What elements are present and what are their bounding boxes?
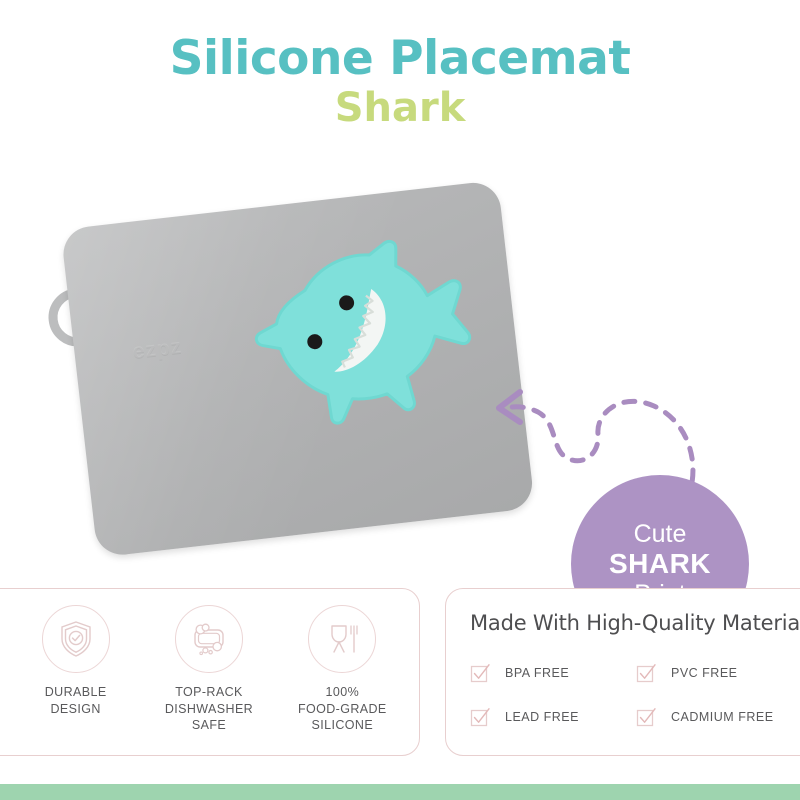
feature-label-durable: DURABLE DESIGN bbox=[45, 684, 107, 717]
footer-accent-bar bbox=[0, 784, 800, 800]
badge-line-1: Cute bbox=[634, 520, 687, 548]
feature-label-line2: DISHWASHER bbox=[165, 702, 253, 716]
placemat-product-image: ezpz bbox=[35, 150, 556, 592]
page-title: Silicone Placemat bbox=[0, 34, 800, 83]
food-grade-icon-wrap bbox=[308, 605, 376, 673]
feature-label-line2: FOOD-GRADE bbox=[298, 702, 387, 716]
material-item-lead-free: LEAD FREE bbox=[470, 695, 636, 739]
shark-graphic bbox=[238, 228, 492, 463]
materials-panel: Made With High-Quality Materials BPA FRE… bbox=[445, 588, 800, 756]
material-item-pvc-free: PVC FREE bbox=[636, 651, 800, 695]
checkbox-checked-icon bbox=[636, 663, 657, 684]
dishwasher-safe-icon bbox=[187, 617, 231, 661]
food-grade-icon bbox=[320, 617, 364, 661]
feature-durable-design: DURABLE DESIGN bbox=[13, 605, 139, 717]
checkbox-checked-icon bbox=[470, 707, 491, 728]
materials-grid: BPA FREE PVC FREE LEAD bbox=[470, 651, 800, 739]
feature-label-dishwasher: TOP-RACK DISHWASHER SAFE bbox=[165, 684, 253, 734]
shield-check-icon bbox=[55, 618, 97, 660]
product-infographic: Silicone Placemat Shark ezpz bbox=[0, 0, 800, 800]
title-block: Silicone Placemat Shark bbox=[0, 34, 800, 129]
features-panel: DURABLE DESIGN bbox=[0, 588, 420, 756]
hero-product-area: ezpz Cute SHARK Print bbox=[0, 150, 800, 580]
material-label: PVC FREE bbox=[671, 666, 738, 680]
material-label: CADMIUM FREE bbox=[671, 710, 774, 724]
checkbox-checked-icon bbox=[636, 707, 657, 728]
feature-label-line1: DURABLE bbox=[45, 685, 107, 699]
material-item-cadmium-free: CADMIUM FREE bbox=[636, 695, 800, 739]
features-row: DURABLE DESIGN bbox=[9, 605, 409, 734]
checkbox-checked-icon bbox=[470, 663, 491, 684]
feature-label-line1: TOP-RACK bbox=[175, 685, 243, 699]
feature-label-line2: DESIGN bbox=[50, 702, 100, 716]
shield-check-icon-wrap bbox=[42, 605, 110, 673]
dishwasher-safe-icon-wrap bbox=[175, 605, 243, 673]
feature-label-line1: 100% bbox=[326, 685, 360, 699]
material-label: BPA FREE bbox=[505, 666, 569, 680]
feature-label-line3: SAFE bbox=[192, 718, 226, 732]
feature-label-line3: SILICONE bbox=[312, 718, 374, 732]
feature-dishwasher-safe: TOP-RACK DISHWASHER SAFE bbox=[146, 605, 272, 734]
feature-label-food-grade: 100% FOOD-GRADE SILICONE bbox=[298, 684, 387, 734]
page-subtitle: Shark bbox=[0, 87, 800, 129]
material-item-bpa-free: BPA FREE bbox=[470, 651, 636, 695]
material-label: LEAD FREE bbox=[505, 710, 579, 724]
badge-line-2: SHARK bbox=[609, 548, 711, 579]
materials-title: Made With High-Quality Materials bbox=[470, 611, 800, 635]
feature-food-grade: 100% FOOD-GRADE SILICONE bbox=[279, 605, 405, 734]
